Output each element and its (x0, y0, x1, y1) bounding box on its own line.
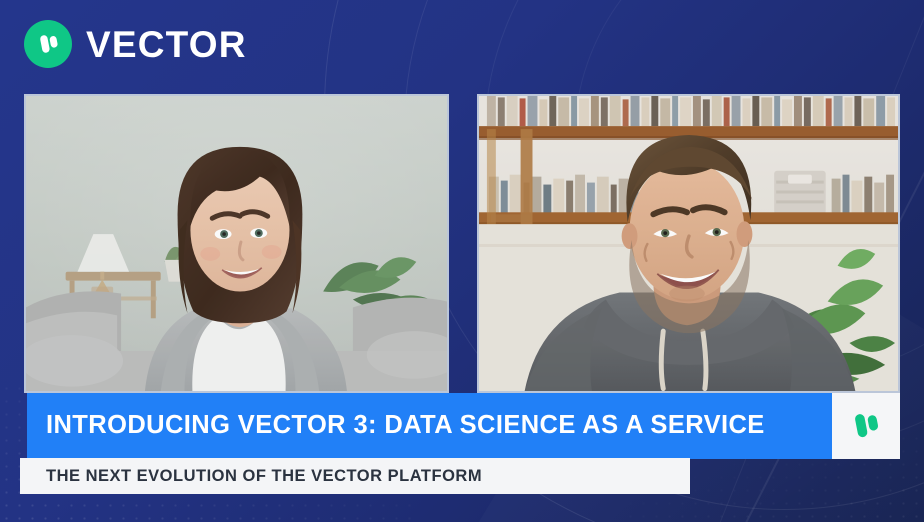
brand-lockup: VECTOR (24, 20, 247, 68)
vector-v-logomark-icon (849, 409, 883, 443)
presentation-slide: VECTOR (0, 0, 924, 522)
brand-wordmark: VECTOR (86, 26, 247, 63)
slide-title-bar: INTRODUCING VECTOR 3: DATA SCIENCE AS A … (27, 393, 832, 459)
vector-v-logomark-icon (24, 20, 72, 68)
video-panel-participant-left[interactable] (24, 94, 449, 393)
slide-title: INTRODUCING VECTOR 3: DATA SCIENCE AS A … (27, 413, 765, 439)
slide-subtitle: THE NEXT EVOLUTION OF THE VECTOR PLATFOR… (20, 468, 482, 485)
slide-subtitle-bar: THE NEXT EVOLUTION OF THE VECTOR PLATFOR… (20, 458, 690, 494)
video-panel-participant-right[interactable] (477, 94, 900, 393)
logo-badge (832, 393, 900, 459)
